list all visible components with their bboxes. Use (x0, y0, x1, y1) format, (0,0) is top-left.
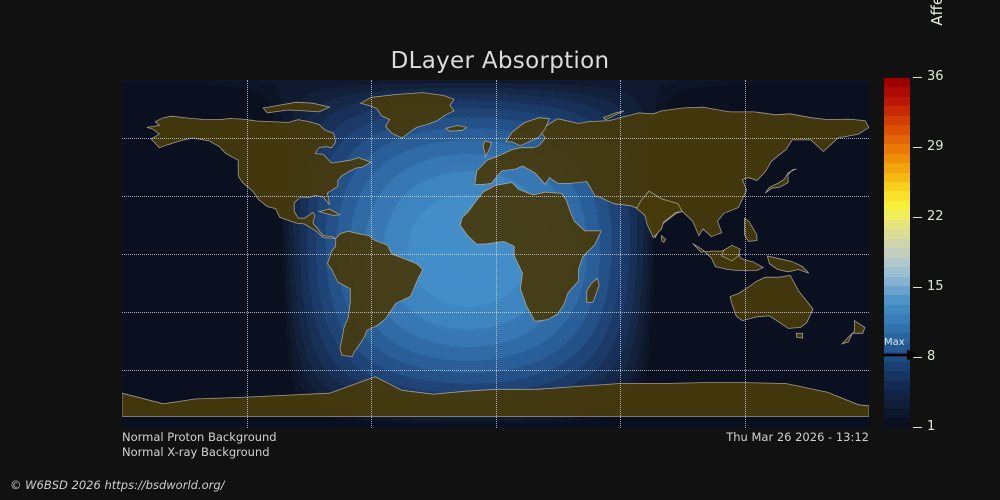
colorbar-tick-label: 15 (927, 279, 944, 295)
landmass-uk (483, 141, 491, 157)
timestamp: Thu Mar 26 2026 - 13:12 (726, 430, 869, 445)
landmass-africa-eurasia (460, 183, 601, 322)
landmass-australia (730, 275, 813, 328)
colorbar-gradient (884, 78, 910, 428)
status-xray-background: Normal X-ray Background (122, 445, 277, 460)
colorbar-tick-label: 29 (927, 139, 944, 155)
colorbar-band (884, 305, 910, 314)
colorbar-band (884, 173, 910, 182)
landmass-japan (765, 169, 796, 193)
landmass-philippines (745, 218, 757, 241)
colorbar-band (884, 191, 910, 200)
colorbar-band (884, 87, 910, 96)
colorbar-band (884, 78, 910, 87)
landmass-south-america (327, 231, 423, 356)
landmass-new-zealand (842, 321, 865, 344)
colorbar-band (884, 295, 910, 304)
colorbar-band (884, 343, 910, 352)
colorbar-band (884, 97, 910, 106)
colorbar-band (884, 399, 910, 408)
colorbar-band (884, 277, 910, 286)
colorbar-band (884, 144, 910, 153)
colorbar-band (884, 371, 910, 380)
landmass-north-america (147, 116, 371, 238)
landmass-sri-lanka (662, 236, 666, 243)
colorbar-band (884, 418, 910, 427)
footer-credit: © W6BSD 2026 https://bsdworld.org/ (10, 478, 225, 492)
colorbar-band (884, 314, 910, 323)
colorbar-band (884, 267, 910, 276)
landmass-tasmania (796, 333, 802, 338)
colorbar-band (884, 381, 910, 390)
landmass-madagascar (587, 278, 599, 302)
status-proton-background: Normal Proton Background (122, 430, 277, 445)
colorbar-band (884, 333, 910, 342)
page-title: DLayer Absorption (0, 48, 1000, 74)
world-absorption-map[interactable] (122, 80, 869, 428)
status-block: Normal Proton Background Normal X-ray Ba… (122, 430, 277, 459)
colorbar-tick-mark (913, 357, 922, 358)
dlayer-absorption-page: DLayer Absorption 3629221581 Max Affecte… (0, 0, 1000, 500)
colorbar-band (884, 286, 910, 295)
colorbar-band (884, 229, 910, 238)
colorbar-ticks: 3629221581 (910, 78, 970, 428)
colorbar-band (884, 210, 910, 219)
landmass-antarctica (122, 377, 869, 417)
colorbar-tick-mark (913, 287, 922, 288)
colorbar-tick-mark (913, 77, 922, 78)
colorbar-band (884, 409, 910, 418)
colorbar-band (884, 135, 910, 144)
colorbar-band (884, 248, 910, 257)
colorbar-band (884, 220, 910, 229)
colorbar-tick-mark (913, 147, 922, 148)
colorbar-tick-label: 22 (927, 209, 944, 225)
colorbar-band (884, 362, 910, 371)
colorbar-band (884, 324, 910, 333)
colorbar-band (884, 390, 910, 399)
colorbar-band (884, 352, 910, 361)
landmass-new-guinea (767, 256, 809, 273)
colorbar-tick-label: 1 (927, 419, 935, 435)
landmass-cuba (319, 209, 340, 215)
colorbar-band (884, 163, 910, 172)
colorbar-band (884, 154, 910, 163)
colorbar[interactable]: 3629221581 Max (884, 78, 910, 428)
colorbar-band (884, 182, 910, 191)
landmass-greenland (361, 93, 454, 138)
colorbar-axis-label: Affected Frequency (MHz) (924, 0, 950, 104)
colorbar-tick-mark (913, 217, 922, 218)
landmass-arctic-isles (263, 102, 329, 113)
colorbar-tick-mark (913, 427, 922, 428)
colorbar-tick-label: 8 (927, 349, 935, 365)
colorbar-band (884, 239, 910, 248)
colorbar-band (884, 116, 910, 125)
colorbar-band (884, 258, 910, 267)
coastline-overlay (122, 80, 869, 428)
colorbar-band (884, 125, 910, 134)
colorbar-band (884, 106, 910, 115)
colorbar-band (884, 201, 910, 210)
landmass-iceland (446, 125, 467, 131)
